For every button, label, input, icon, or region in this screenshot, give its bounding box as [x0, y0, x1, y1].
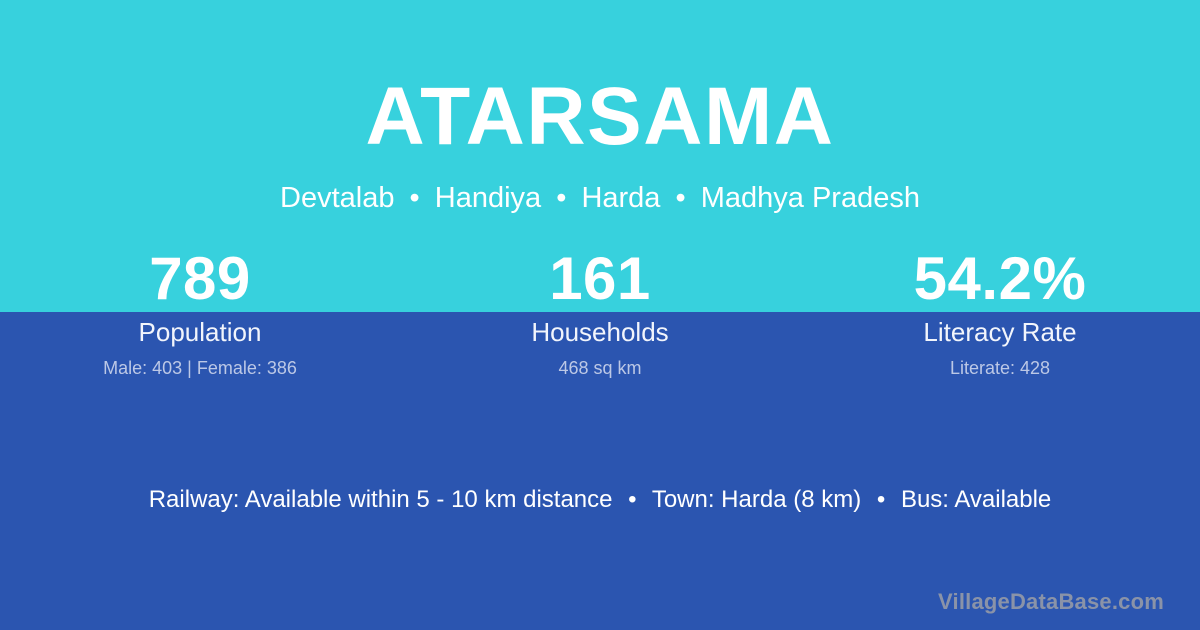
stat-label: Population — [0, 316, 400, 348]
breadcrumb-item-3: Madhya Pradesh — [701, 182, 920, 214]
stat-literacy-rate: 54.2% Literacy Rate Literate: 428 — [800, 246, 1200, 379]
stat-population: 789 Population Male: 403 | Female: 386 — [0, 246, 400, 379]
stat-sublabel: 468 sq km — [400, 357, 800, 379]
breadcrumb-item-0: Devtalab — [280, 182, 394, 214]
facilities-line: Railway: Available within 5 - 10 km dist… — [0, 484, 1200, 516]
page-title: ATARSAMA — [0, 76, 1200, 158]
stats-row: 789 Population Male: 403 | Female: 386 1… — [0, 246, 1200, 379]
stat-label: Literacy Rate — [800, 316, 1200, 348]
breadcrumb-separator: • — [669, 182, 693, 214]
stat-label: Households — [400, 316, 800, 348]
facility-railway: Railway: Available within 5 - 10 km dist… — [149, 486, 613, 513]
facility-separator: • — [619, 486, 645, 513]
breadcrumb-separator: • — [403, 182, 427, 214]
stat-value: 161 — [400, 246, 800, 312]
facility-bus: Bus: Available — [901, 486, 1051, 513]
stat-value: 789 — [0, 246, 400, 312]
site-watermark: VillageDataBase.com — [938, 588, 1164, 616]
stat-value: 54.2% — [800, 246, 1200, 312]
stat-sublabel: Male: 403 | Female: 386 — [0, 357, 400, 379]
stat-households: 161 Households 468 sq km — [400, 246, 800, 379]
breadcrumb: Devtalab • Handiya • Harda • Madhya Prad… — [0, 180, 1200, 216]
breadcrumb-separator: • — [549, 182, 573, 214]
stat-sublabel: Literate: 428 — [800, 357, 1200, 379]
village-info-card: ATARSAMA Devtalab • Handiya • Harda • Ma… — [0, 0, 1200, 630]
facility-separator: • — [868, 486, 894, 513]
facility-town: Town: Harda (8 km) — [652, 486, 861, 513]
breadcrumb-item-2: Harda — [581, 182, 660, 214]
breadcrumb-item-1: Handiya — [435, 182, 541, 214]
